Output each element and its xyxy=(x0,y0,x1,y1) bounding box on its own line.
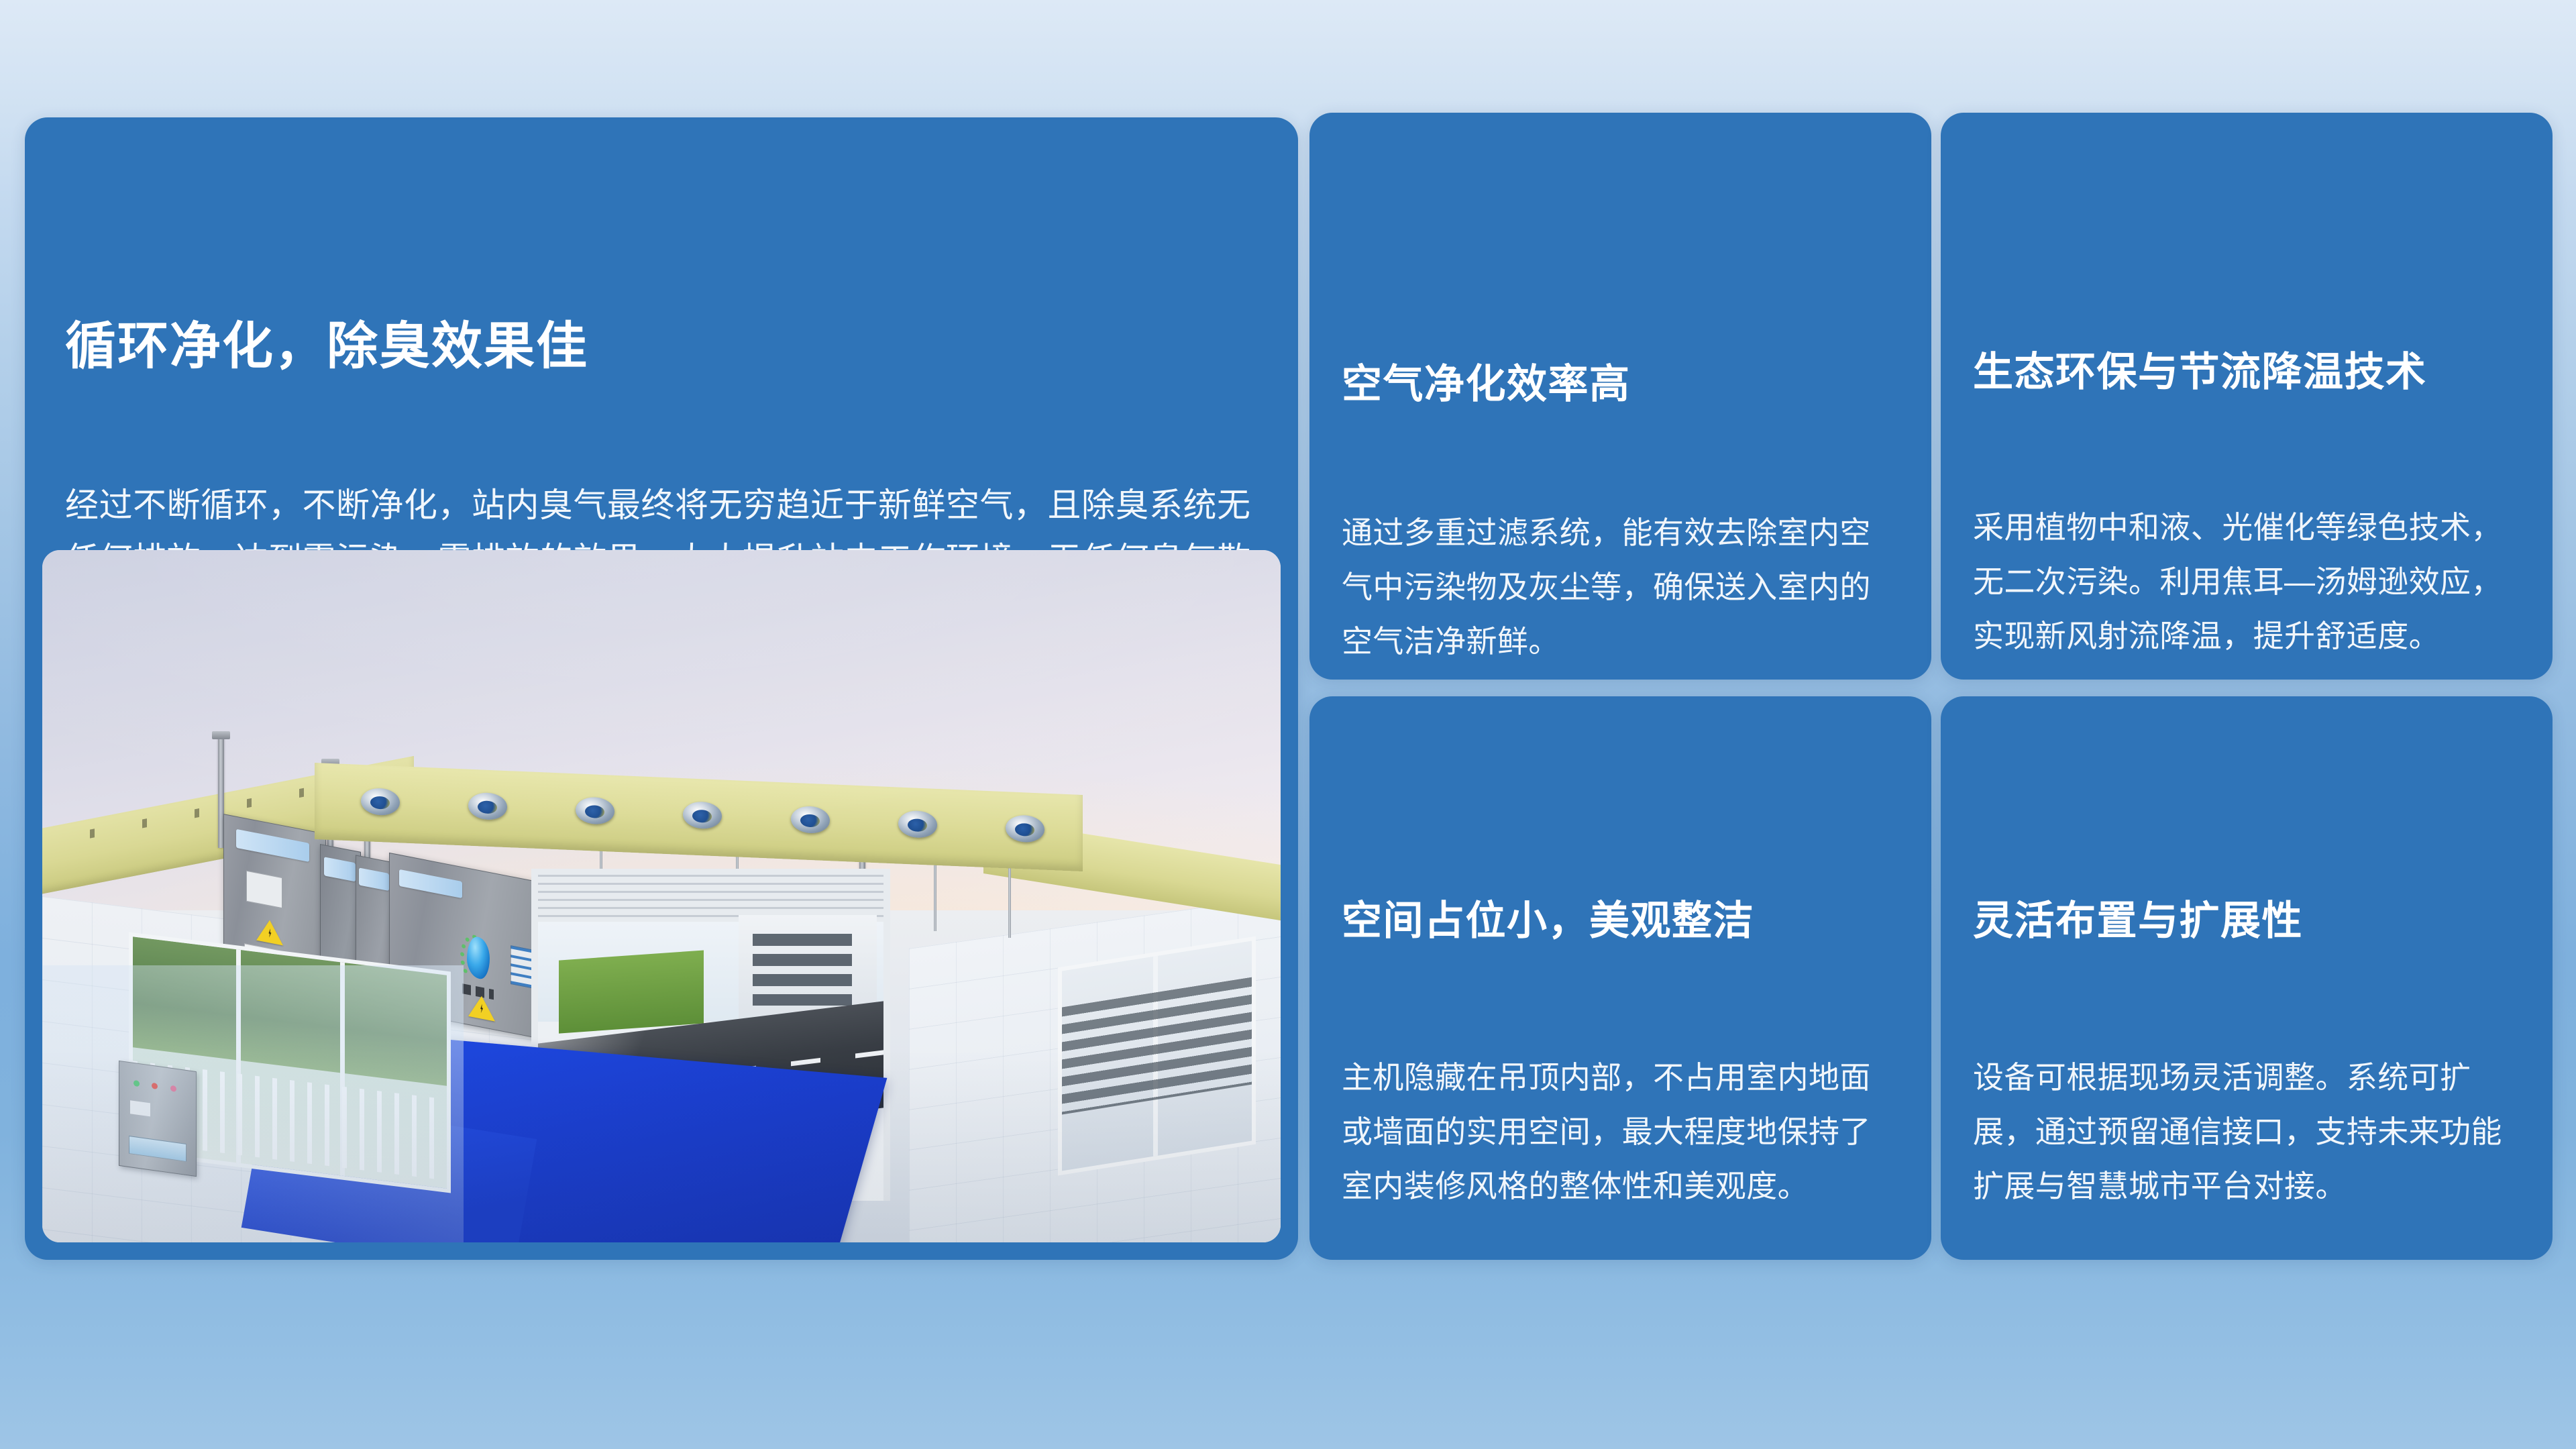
hero-feature-card[interactable]: 循环净化，除臭效果佳 经过不断循环，不断净化，站内臭气最终将无穷趋近于新鲜空气，… xyxy=(25,117,1298,1260)
feature-cards-stage: 循环净化，除臭效果佳 经过不断循环，不断净化，站内臭气最终将无穷趋近于新鲜空气，… xyxy=(0,0,2576,1449)
rail-lamp-7 xyxy=(1006,814,1044,843)
cabinet-access-panel xyxy=(246,871,282,908)
rail-lamp-3 xyxy=(576,796,614,824)
feature-card-eco-cooling[interactable]: 生态环保与节流降温技术 采用植物中和液、光催化等绿色技术，无二次污染。利用焦耳—… xyxy=(1941,113,2553,680)
render-scene xyxy=(42,550,1281,1242)
feature-card-title: 生态环保与节流降温技术 xyxy=(1973,349,2427,395)
rail-lamp-2 xyxy=(468,792,507,820)
feature-card-title: 灵活布置与扩展性 xyxy=(1973,898,2303,944)
hero-card-title: 循环净化，除臭效果佳 xyxy=(65,319,588,375)
rail-lamp-6 xyxy=(898,810,937,838)
electrical-hazard-icon xyxy=(468,993,495,1021)
cabinet-label-plate xyxy=(359,867,388,891)
cabinet-label-plate xyxy=(236,828,309,862)
feature-card-air-purification[interactable]: 空气净化效率高 通过多重过滤系统，能有效去除室内空气中污染物及灰尘等，确保送入室… xyxy=(1309,113,1931,680)
electrical-hazard-icon xyxy=(256,918,283,946)
feature-card-body: 通过多重过滤系统，能有效去除室内空气中污染物及灰尘等，确保送入室内的空气洁净新鲜… xyxy=(1342,506,1897,669)
feature-card-body: 主机隐藏在吊顶内部，不占用室内地面或墙面的实用空间，最大程度地保持了室内装修风格… xyxy=(1342,1051,1897,1214)
outdoor-lawn xyxy=(559,950,704,1033)
feature-card-space-saving[interactable]: 空间占位小，美观整洁 主机隐藏在吊顶内部，不占用室内地面或墙面的实用空间，最大程… xyxy=(1309,696,1931,1260)
feature-card-flexible-expansion[interactable]: 灵活布置与扩展性 设备可根据现场灵活调整。系统可扩展，通过预留通信接口，支持未来… xyxy=(1941,696,2553,1260)
brand-logo-icon xyxy=(462,930,494,1002)
equipment-render-image xyxy=(42,550,1281,1242)
cabinet-label-plate xyxy=(323,857,355,881)
window-mullion xyxy=(1153,955,1158,1156)
rail-lamp-1 xyxy=(361,787,400,815)
right-window xyxy=(1058,936,1256,1175)
rail-lamp-4 xyxy=(683,801,722,829)
feature-card-body: 采用植物中和液、光催化等绿色技术，无二次污染。利用焦耳—汤姆逊效应，实现新风射流… xyxy=(1973,500,2520,663)
cabinet-control-strip xyxy=(511,945,533,988)
feature-card-title: 空气净化效率高 xyxy=(1342,361,1631,407)
rail-lamp-5 xyxy=(791,805,830,833)
feature-card-body: 设备可根据现场灵活调整。系统可扩展，通过预留通信接口，支持未来功能扩展与智慧城市… xyxy=(1973,1051,2520,1214)
glass-reflection-overlay xyxy=(42,965,464,1242)
feature-card-title: 空间占位小，美观整洁 xyxy=(1342,898,1754,944)
cabinet-label-plate xyxy=(398,869,462,898)
